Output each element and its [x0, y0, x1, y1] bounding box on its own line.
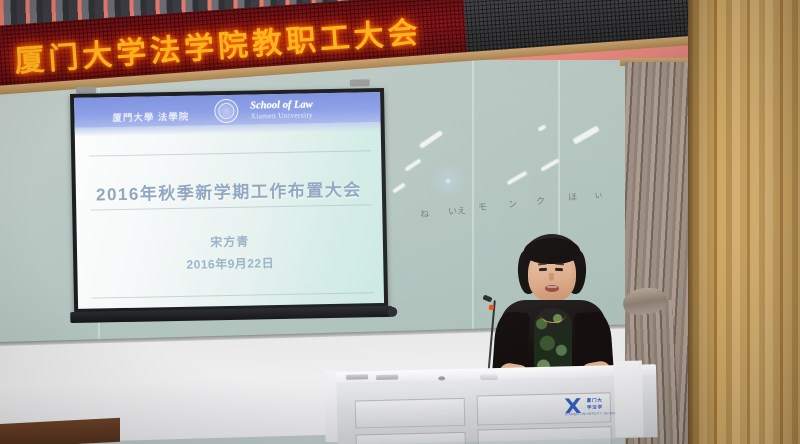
slide-divider: [92, 292, 374, 298]
lectern-panel: [355, 398, 466, 429]
presenter-fringe: [524, 238, 580, 264]
slide-divider: [90, 204, 372, 210]
lectern-panel: [477, 426, 612, 444]
projection-screen: 厦門大學 法學院 School of Law Xiamen University…: [70, 88, 388, 316]
presenter-nose: [549, 273, 554, 281]
glass-marker-mark: ン: [508, 197, 518, 210]
wood-slat-panel: [693, 0, 800, 444]
presentation-slide: 厦門大學 法學院 School of Law Xiamen University…: [74, 92, 384, 309]
lectern-object: [346, 374, 368, 380]
presenter-eye: [539, 268, 547, 271]
microphone-base: [480, 374, 498, 380]
lectern-logo-text-line1: 厦门大: [587, 397, 603, 403]
wood-panel-shading: [693, 0, 800, 444]
glass-marker-mark: ほ: [568, 190, 578, 203]
glass-lens-flare: [443, 176, 453, 186]
glass-marker-mark: ね: [420, 207, 430, 220]
glass-panel-seam: [472, 60, 474, 350]
lectern-right-cap: [614, 361, 644, 438]
slide-speaker-name: 宋方青: [77, 230, 383, 253]
presenter-necklace: [540, 306, 566, 323]
lectern-panel: [356, 432, 467, 444]
glass-marker-mark: いえ: [448, 204, 467, 218]
screen-mount-bracket: [350, 79, 370, 86]
screen-pull-knob: [387, 307, 397, 317]
slide-title: 2016年秋季新学期工作布置大会: [76, 175, 382, 206]
slide-date: 2016年9月22日: [77, 252, 383, 275]
presenter-mouth: [545, 285, 559, 292]
lectern-body: 厦门大 学法学 XIAMEN UNIVERSITY SCHOOL OF LAW: [336, 375, 657, 444]
lectern-logo-text-line2: 学法学: [587, 404, 603, 410]
presenter-eye: [555, 268, 563, 271]
slide-divider: [89, 150, 371, 156]
slide-institution-en-line2: Xiamen University: [250, 110, 313, 120]
glass-marker-mark: モ: [478, 200, 488, 213]
glass-marker-mark: ク: [536, 194, 546, 207]
lecture-hall-photo: ね いえ モ ン ク ほ ぃ 厦门大学法学院教职工大会 厦門大學 法學院 Sch…: [0, 0, 800, 444]
slide-institution-cn: 厦門大學 法學院: [112, 109, 189, 124]
glass-marker-mark: ぃ: [594, 188, 604, 201]
lectern-object: [376, 374, 398, 380]
